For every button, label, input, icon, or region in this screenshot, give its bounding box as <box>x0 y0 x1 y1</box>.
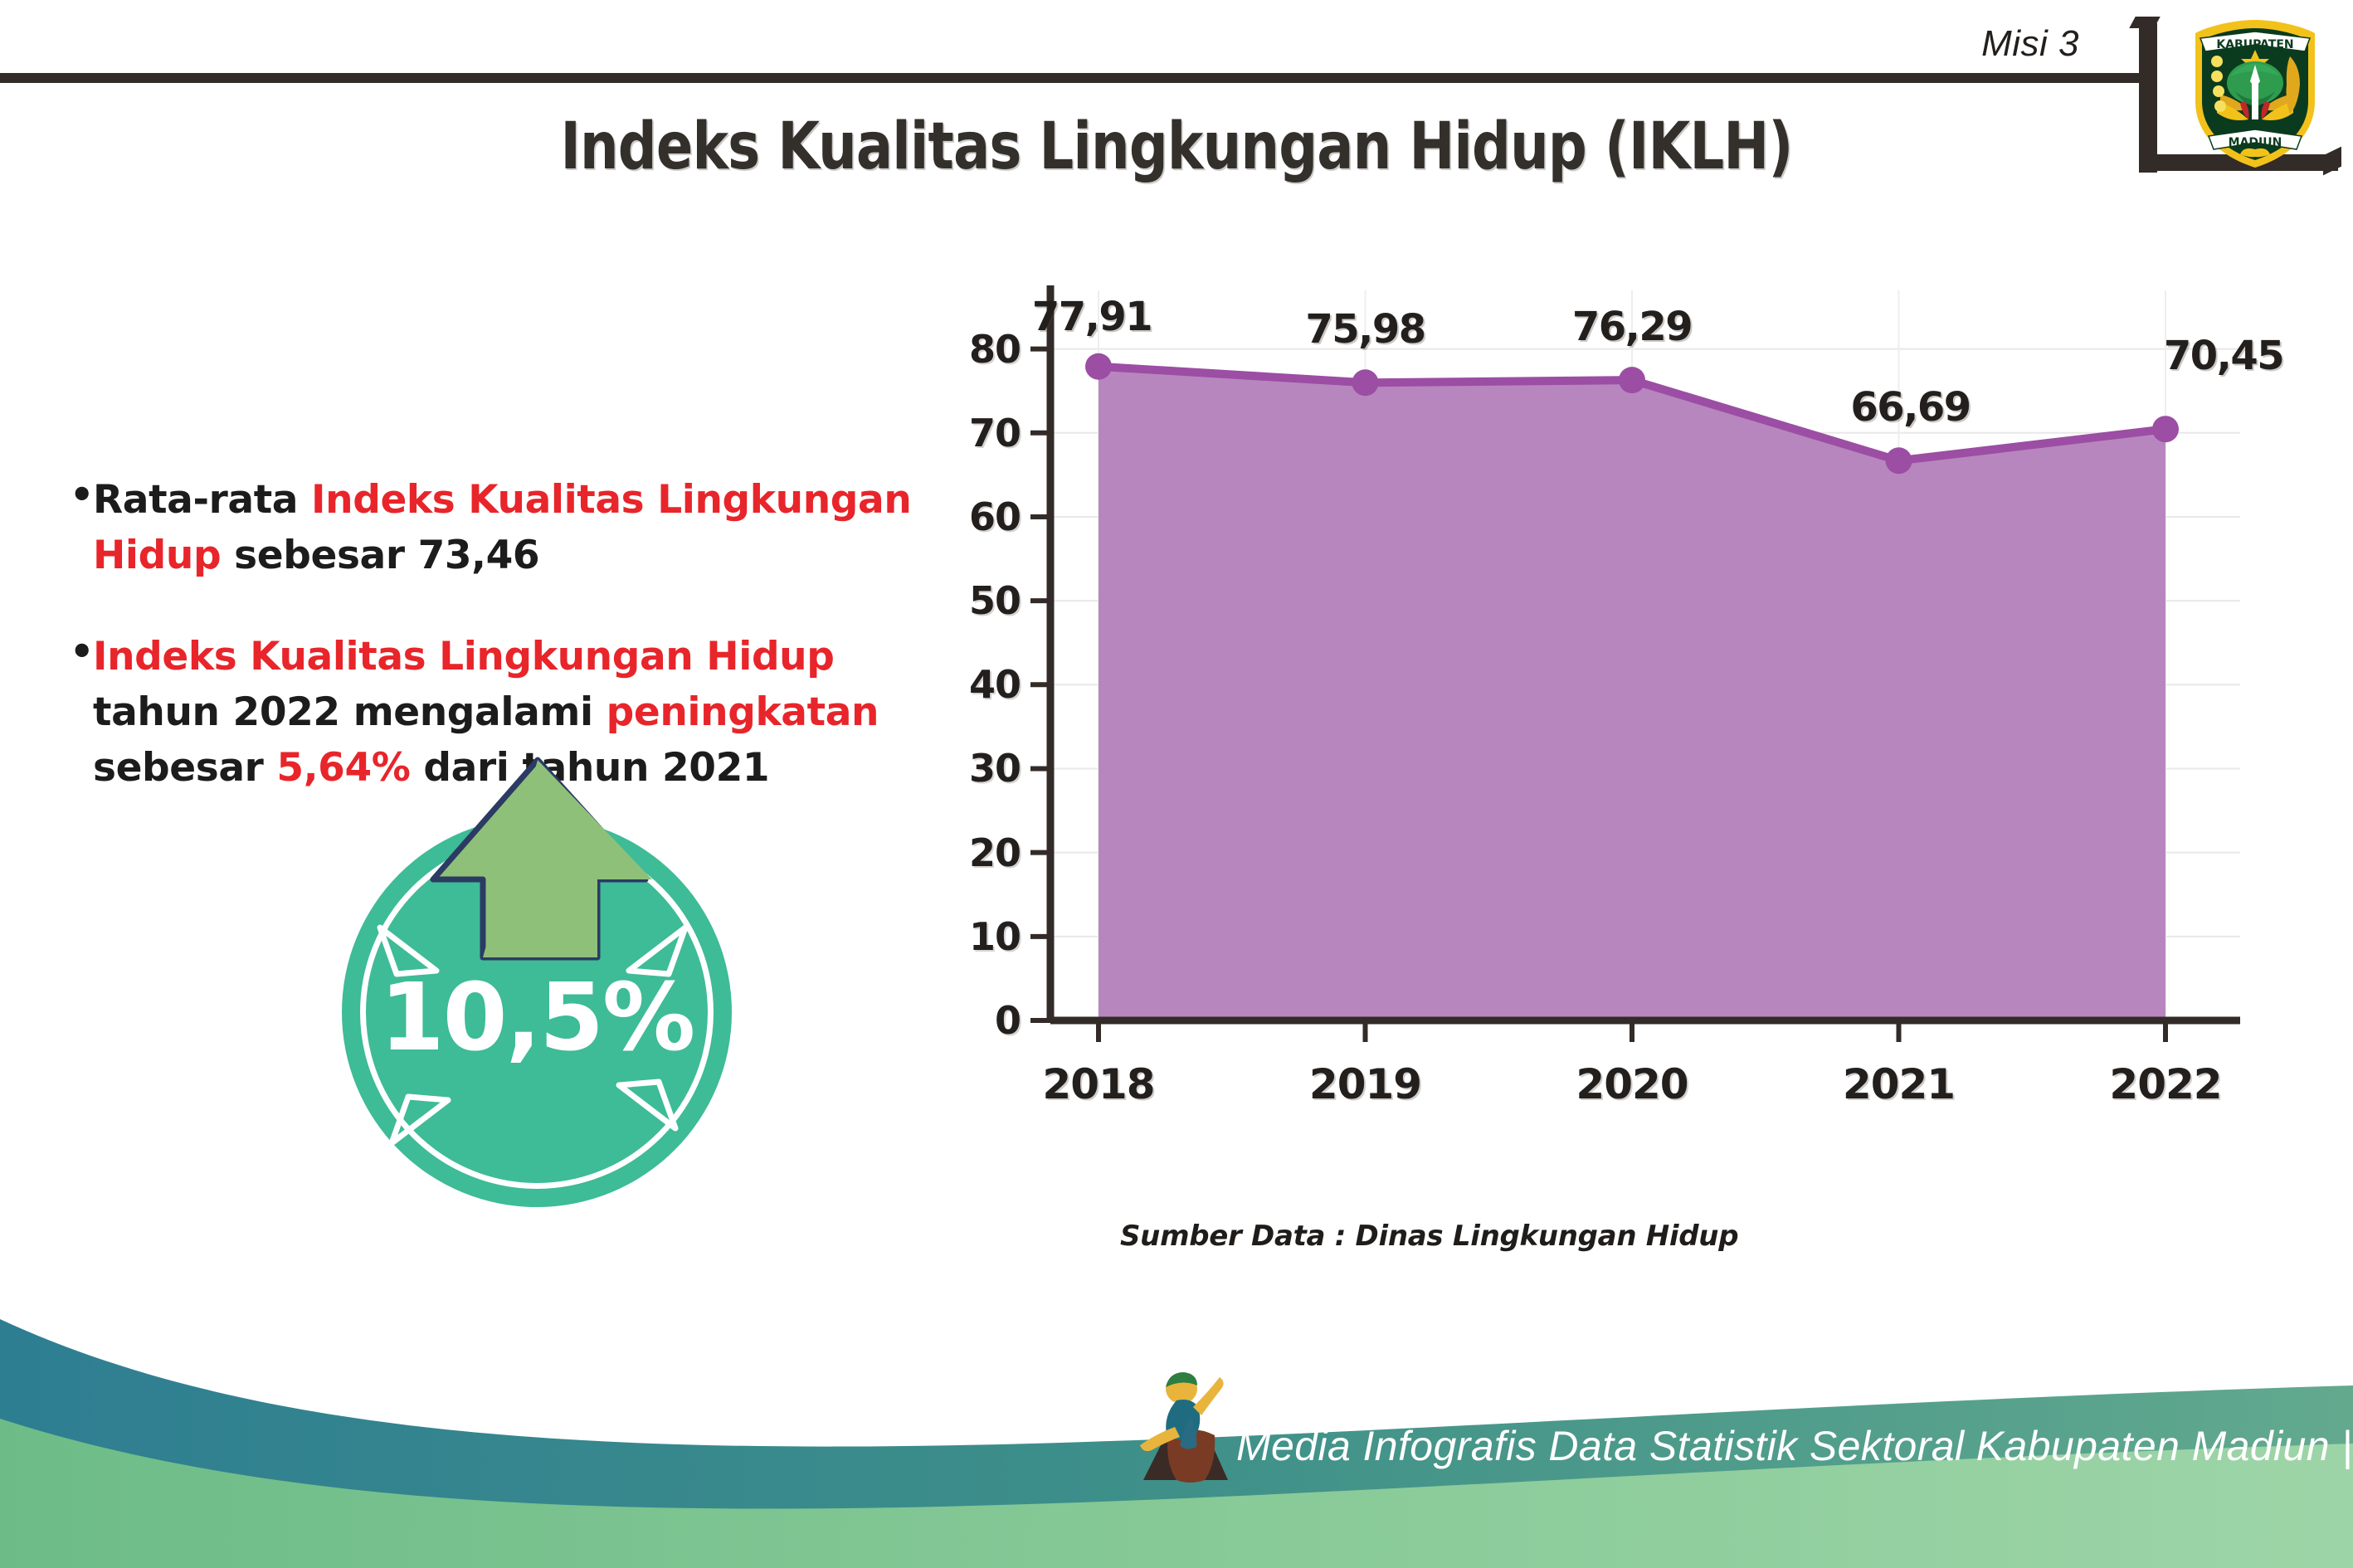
y-axis-tick-label: 30 <box>969 746 1021 791</box>
bullet-marker: • <box>70 632 94 670</box>
iklh-area-chart: 010203040506070802018201920202021202277,… <box>971 274 2282 1195</box>
kabupaten-madiun-emblem-icon: KABUPATEN MADIUN <box>2180 15 2330 173</box>
data-point-label: 70,45 <box>2164 333 2283 379</box>
y-axis-tick-label: 80 <box>969 327 1021 372</box>
growth-badge: 10,5% <box>324 738 772 1220</box>
list-item: • Rata-rata Indeks Kualitas Lingkungan H… <box>70 473 966 583</box>
svg-text:MADIUN: MADIUN <box>2229 136 2282 149</box>
y-axis-tick-label: 10 <box>969 914 1021 959</box>
page-title: Indeks Kualitas Lingkungan Hidup (IKLH) <box>188 110 2165 184</box>
y-axis-tick-label: 50 <box>969 578 1021 623</box>
data-point-label: 77,91 <box>1032 294 1152 340</box>
mission-label: Misi 3 <box>1981 23 2079 65</box>
dancer-logo-icon <box>1135 1364 1235 1488</box>
data-point-label: 75,98 <box>1305 306 1425 353</box>
triangle-arrow-bottom-right-icon <box>606 1070 680 1137</box>
x-axis-tick-label: 2022 <box>2109 1060 2221 1108</box>
footer-caption: Media Infografis Data Statistik Sektoral… <box>1236 1422 2353 1470</box>
x-axis-tick-label: 2021 <box>1843 1060 1955 1108</box>
header-rule <box>0 73 2147 83</box>
source-note: Sumber Data : Dinas Lingkungan Hidup <box>1120 1220 1738 1253</box>
up-arrow-icon <box>324 738 772 1012</box>
y-axis-tick-label: 40 <box>969 662 1021 707</box>
bullet-marker: • <box>70 475 94 514</box>
data-point-label: 66,69 <box>1850 384 1970 431</box>
x-axis-tick-label: 2018 <box>1042 1060 1154 1108</box>
y-axis-tick-label: 20 <box>969 830 1021 875</box>
x-axis-tick-label: 2019 <box>1309 1060 1421 1108</box>
x-axis-tick-label: 2020 <box>1576 1060 1688 1108</box>
y-axis-tick-label: 0 <box>995 998 1021 1043</box>
triangle-arrow-bottom-left-icon <box>387 1085 461 1152</box>
svg-text:KABUPATEN: KABUPATEN <box>2216 38 2293 51</box>
bullet-text: Rata-rata Indeks Kualitas Lingkungan Hid… <box>70 473 966 583</box>
y-axis-tick-label: 60 <box>969 494 1021 539</box>
data-point-label: 76,29 <box>1572 304 1692 350</box>
y-axis-tick-label: 70 <box>969 411 1021 455</box>
infographic-slide: Misi 3 KABUPATEN MADIUN Indeks Kualitas … <box>0 0 2353 1568</box>
chart-canvas <box>971 274 2282 1195</box>
bracket-vertical-upper <box>2139 23 2157 76</box>
